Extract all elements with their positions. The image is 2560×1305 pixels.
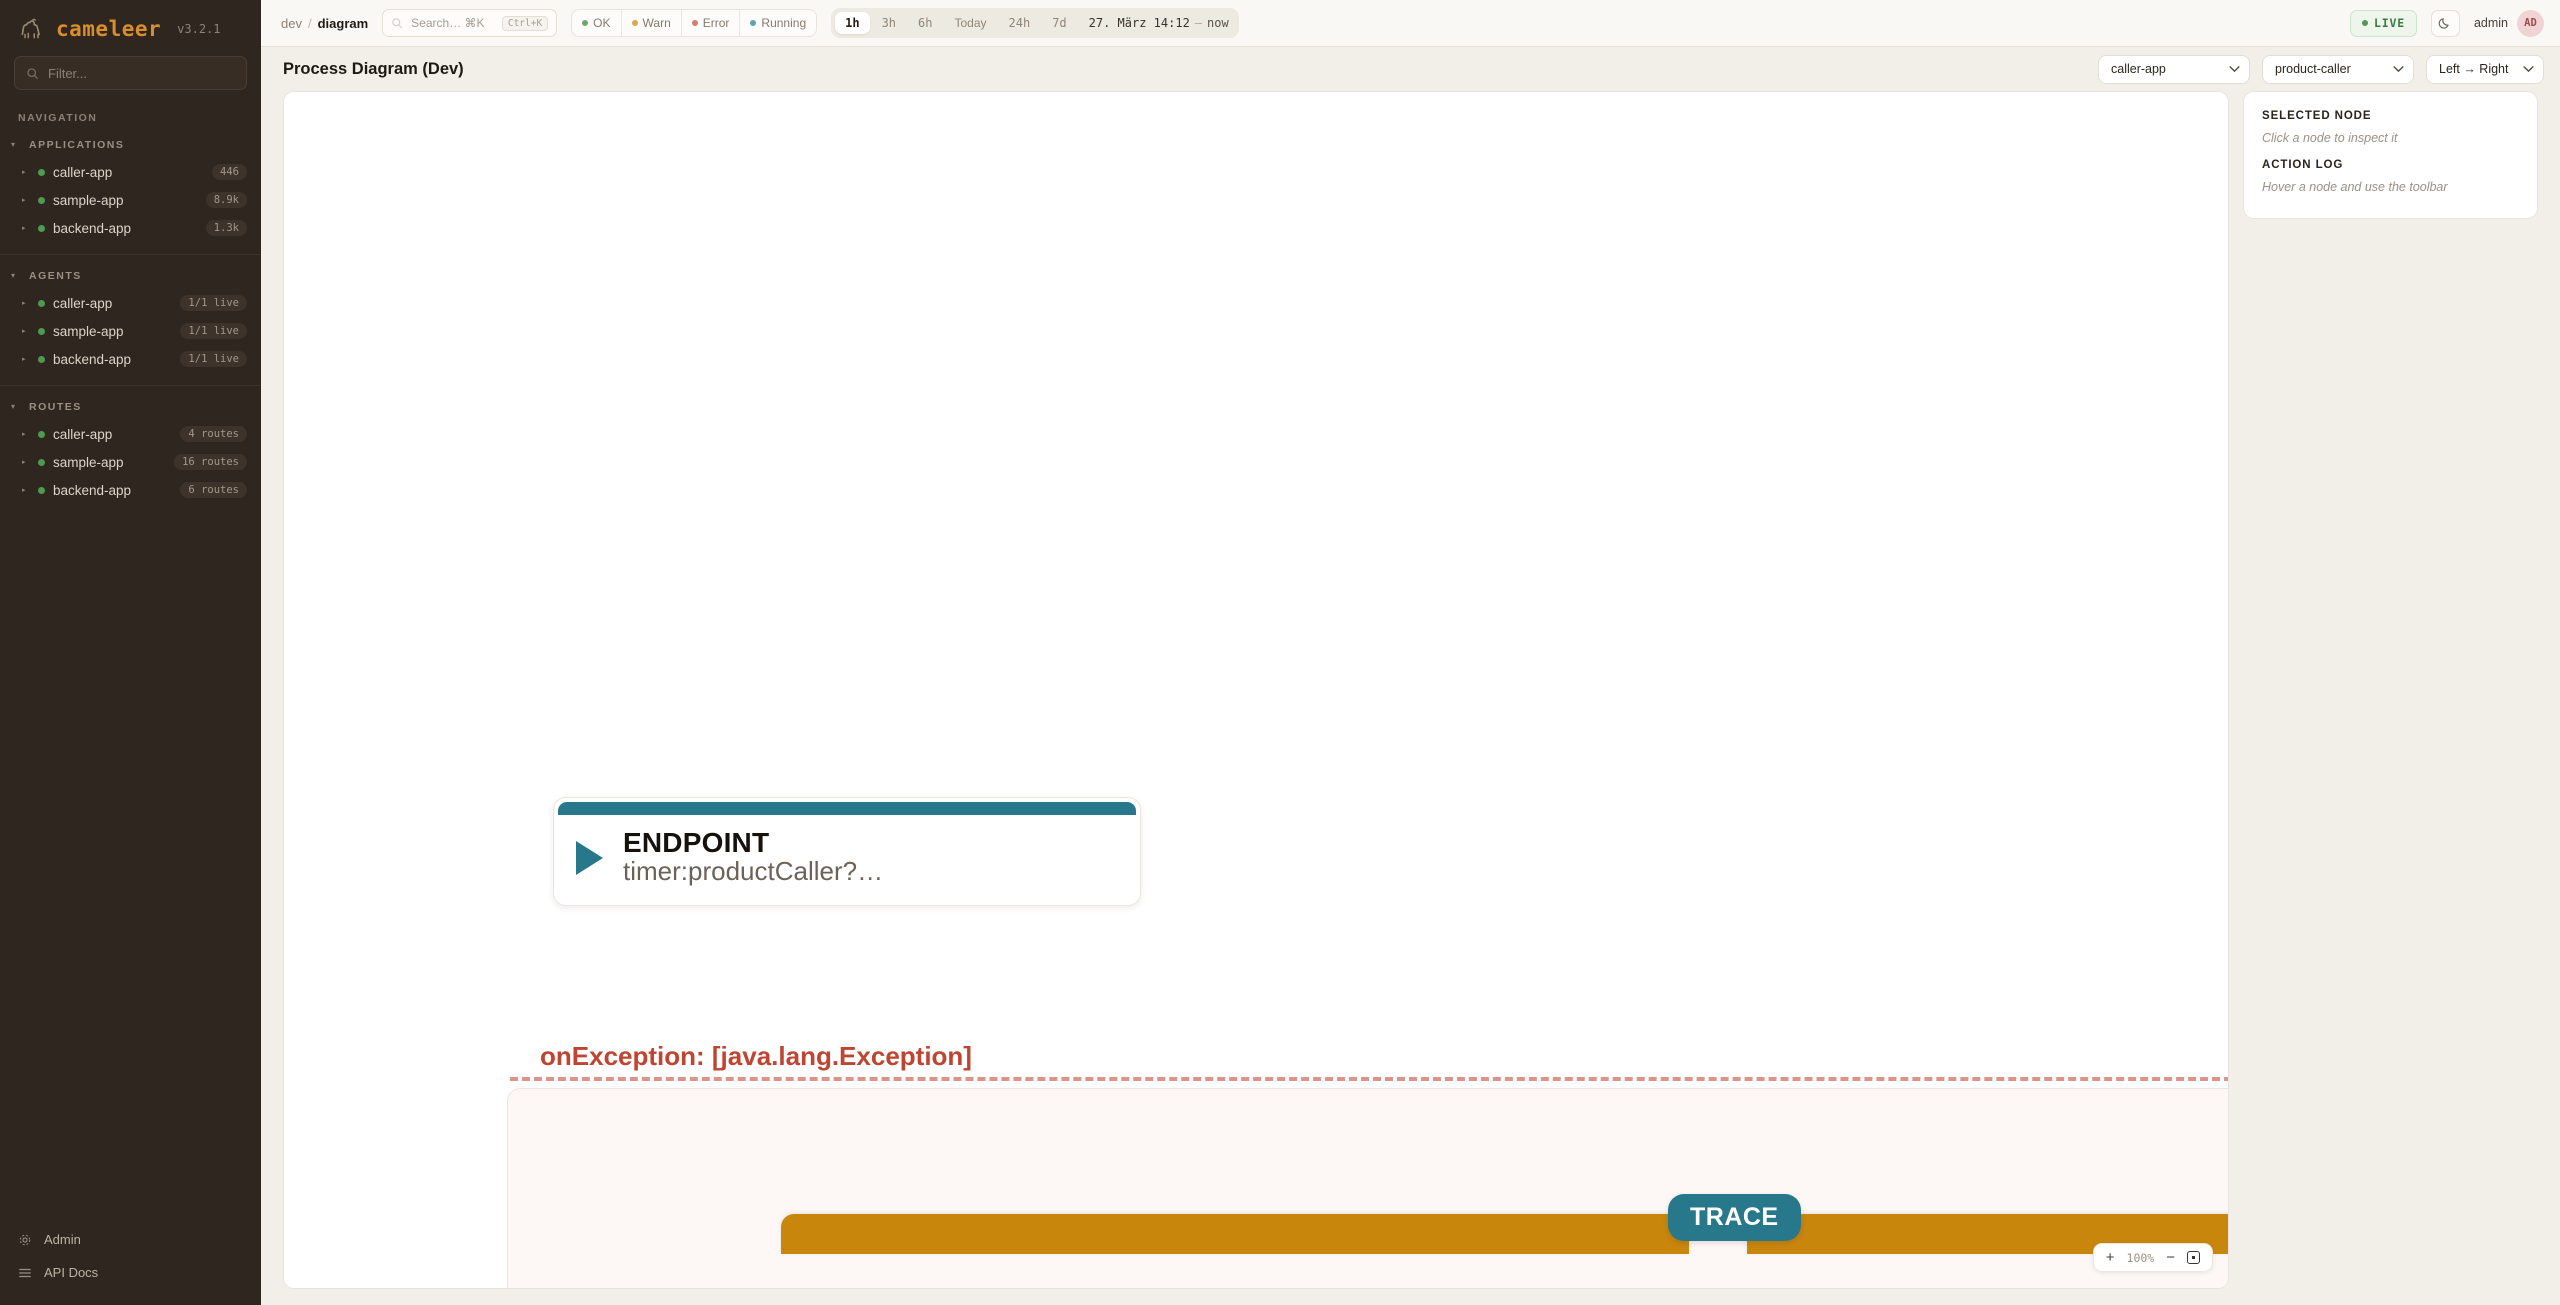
node-body: ENDPOINT timer:productCaller?… <box>554 815 1140 905</box>
sidebar-item-routes-sample-app[interactable]: ▸ sample-app 16 routes <box>0 448 261 476</box>
application-select-wrap: caller-app <box>2098 55 2250 84</box>
chevron-right-icon: ▸ <box>22 197 30 204</box>
status-filter-label: OK <box>593 16 610 30</box>
chevron-right-icon: ▸ <box>22 459 30 466</box>
sidebar-item-badge: 6 routes <box>180 482 247 498</box>
diagram-node-endpoint[interactable]: ENDPOINT timer:productCaller?… <box>553 797 1141 906</box>
theme-toggle-button[interactable] <box>2431 10 2460 37</box>
node-text: ENDPOINT timer:productCaller?… <box>623 828 883 887</box>
sidebar-item-badge: 8.9k <box>206 192 247 208</box>
chevron-right-icon: ▸ <box>22 225 30 232</box>
chevron-down-icon: ▾ <box>11 403 21 411</box>
sidebar-item-label: sample-app <box>53 324 172 339</box>
breadcrumb-root[interactable]: dev <box>281 16 302 31</box>
sidebar-item-admin[interactable]: Admin <box>0 1223 261 1256</box>
sidebar-item-agents-sample-app[interactable]: ▸ sample-app 1/1 live <box>0 317 261 345</box>
user-menu[interactable]: admin AD <box>2474 10 2544 37</box>
brand-version: v3.2.1 <box>177 22 220 36</box>
selected-node-title: SELECTED NODE <box>2262 110 2519 122</box>
user-name: admin <box>2474 16 2508 30</box>
sidebar-group-applications: ▾ APPLICATIONS ▸ caller-app 446 ▸ sample… <box>0 130 261 248</box>
sidebar-item-badge: 1/1 live <box>180 351 247 367</box>
route-select-wrap: product-caller <box>2262 55 2414 84</box>
node-kind-label: ENDPOINT <box>623 827 769 858</box>
sidebar-group-title: APPLICATIONS <box>29 139 124 151</box>
sidebar-item-label: caller-app <box>53 427 172 442</box>
sidebar-item-applications-caller-app[interactable]: ▸ caller-app 446 <box>0 158 261 186</box>
chevron-right-icon: ▸ <box>22 300 30 307</box>
sidebar-group-header-routes[interactable]: ▾ ROUTES <box>0 392 261 420</box>
sidebar-group-routes: ▾ ROUTES ▸ caller-app 4 routes ▸ sample-… <box>0 385 261 510</box>
sidebar-item-applications-backend-app[interactable]: ▸ backend-app 1.3k <box>0 214 261 242</box>
live-badge[interactable]: LIVE <box>2350 10 2417 37</box>
direction-select-wrap: Left → Right <box>2426 55 2544 84</box>
chevron-right-icon: ▸ <box>22 431 30 438</box>
content-area: ENDPOINT timer:productCaller?… onExcepti… <box>261 91 2560 1305</box>
status-dot <box>38 328 45 335</box>
exception-label: onException: [java.lang.Exception] <box>540 1041 972 1072</box>
fit-dot <box>2192 1256 2195 1259</box>
list-icon <box>18 1266 32 1280</box>
status-dot <box>38 487 45 494</box>
sidebar-filter[interactable] <box>14 56 247 90</box>
chevron-right-icon: ▸ <box>22 328 30 335</box>
chevron-right-icon: ▸ <box>22 356 30 363</box>
gear-icon <box>18 1233 32 1247</box>
selected-node-hint: Click a node to inspect it <box>2262 131 2519 145</box>
sidebar-item-label: backend-app <box>53 221 198 236</box>
zoom-out-button[interactable]: − <box>2166 1250 2175 1265</box>
status-dot-warn <box>632 20 638 26</box>
diagram-node-trace[interactable]: TRACE <box>1668 1194 1801 1241</box>
status-filter-running[interactable]: Running <box>739 10 816 36</box>
navigation-label: NAVIGATION <box>0 90 261 130</box>
time-range-to: now <box>1207 16 1229 30</box>
page-header: Process Diagram (Dev) caller-app product… <box>261 47 2560 91</box>
sidebar-item-badge: 1/1 live <box>180 323 247 339</box>
status-filter-label: Warn <box>643 16 671 30</box>
sidebar-group-agents: ▾ AGENTS ▸ caller-app 1/1 live ▸ sample-… <box>0 254 261 379</box>
sidebar-filter-input[interactable] <box>48 66 235 81</box>
time-range-6h[interactable]: 6h <box>908 12 942 34</box>
action-log-hint: Hover a node and use the toolbar <box>2262 180 2519 194</box>
status-dot <box>38 459 45 466</box>
avatar: AD <box>2517 10 2544 37</box>
sidebar-item-badge: 1.3k <box>206 220 247 236</box>
brand[interactable]: cameleer v3.2.1 <box>0 0 261 56</box>
time-range-today[interactable]: Today <box>944 12 996 34</box>
sidebar-item-badge: 4 routes <box>180 426 247 442</box>
time-range-dash: – <box>1195 16 1202 30</box>
route-select[interactable]: product-caller <box>2262 55 2414 84</box>
status-dot-error <box>692 20 698 26</box>
moon-icon <box>2438 16 2452 30</box>
status-dot <box>38 169 45 176</box>
diagram-node-orange-left[interactable] <box>781 1214 1689 1254</box>
status-filter-ok[interactable]: OK <box>572 10 620 36</box>
chevron-down-icon: ▾ <box>11 141 21 149</box>
sidebar-item-label: sample-app <box>53 193 198 208</box>
main-area: dev / diagram Search… ⌘K Ctrl+K OK <box>261 0 2560 1305</box>
sidebar-group-title: AGENTS <box>29 270 82 282</box>
sidebar-item-badge: 446 <box>212 164 247 180</box>
sidebar-filter-wrap <box>0 56 261 90</box>
sidebar-item-label: caller-app <box>53 165 204 180</box>
status-filter-label: Error <box>703 16 730 30</box>
zoom-control: + 100% − <box>2093 1243 2213 1272</box>
application-select[interactable]: caller-app <box>2098 55 2250 84</box>
sidebar-footer-label: Admin <box>44 1232 81 1247</box>
status-dot <box>38 225 45 232</box>
time-range-24h[interactable]: 24h <box>999 12 1041 34</box>
direction-select[interactable]: Left → Right <box>2426 55 2544 84</box>
sidebar-item-api-docs[interactable]: API Docs <box>0 1256 261 1289</box>
exception-boundary-line <box>510 1077 2229 1081</box>
sidebar: cameleer v3.2.1 NAVIGATION ▾ APPLICATION… <box>0 0 261 1305</box>
sidebar-footer: Admin API Docs <box>0 1223 261 1305</box>
chevron-right-icon: ▸ <box>22 487 30 494</box>
play-icon <box>576 841 603 875</box>
chevron-right-icon: ▸ <box>22 169 30 176</box>
exception-region-panel <box>507 1088 2229 1289</box>
app-root: cameleer v3.2.1 NAVIGATION ▾ APPLICATION… <box>0 0 2560 1305</box>
sidebar-item-badge: 16 routes <box>174 454 247 470</box>
node-accent-bar <box>558 802 1136 815</box>
breadcrumb-separator: / <box>308 16 312 31</box>
status-filter-group: OK Warn Error Running <box>571 9 817 37</box>
sidebar-item-label: backend-app <box>53 483 172 498</box>
search-icon <box>391 17 403 29</box>
sidebar-item-label: sample-app <box>53 455 166 470</box>
live-dot <box>2362 20 2368 26</box>
sidebar-item-routes-caller-app[interactable]: ▸ caller-app 4 routes <box>0 420 261 448</box>
sidebar-item-agents-backend-app[interactable]: ▸ backend-app 1/1 live <box>0 345 261 373</box>
sidebar-item-routes-backend-app[interactable]: ▸ backend-app 6 routes <box>0 476 261 504</box>
sidebar-item-label: caller-app <box>53 296 172 311</box>
status-dot-running <box>750 20 756 26</box>
time-range-3h[interactable]: 3h <box>872 12 906 34</box>
action-log-title: ACTION LOG <box>2262 159 2519 171</box>
status-dot <box>38 431 45 438</box>
camel-icon <box>18 16 44 42</box>
time-range-7d[interactable]: 7d <box>1042 12 1076 34</box>
global-search[interactable]: Search… ⌘K Ctrl+K <box>382 9 557 37</box>
sidebar-footer-label: API Docs <box>44 1265 98 1280</box>
status-dot <box>38 197 45 204</box>
zoom-percent: 100% <box>2127 1251 2155 1265</box>
fit-to-screen-icon[interactable] <box>2187 1251 2200 1264</box>
breadcrumb: dev / diagram <box>281 16 368 31</box>
search-shortcut-kbd: Ctrl+K <box>502 16 548 31</box>
page-title: Process Diagram (Dev) <box>283 60 464 79</box>
search-icon <box>26 67 39 80</box>
node-uri-label: timer:productCaller?… <box>623 856 883 886</box>
time-range-value[interactable]: 27. März 14:12–now <box>1079 16 1235 30</box>
status-dot <box>38 356 45 363</box>
inspector-panel: SELECTED NODE Click a node to inspect it… <box>2243 91 2538 219</box>
sidebar-group-header-agents[interactable]: ▾ AGENTS <box>0 261 261 289</box>
brand-name: cameleer <box>56 17 161 41</box>
sidebar-group-header-applications[interactable]: ▾ APPLICATIONS <box>0 130 261 158</box>
global-search-placeholder: Search… ⌘K <box>411 16 494 30</box>
sidebar-item-label: backend-app <box>53 352 172 367</box>
status-filter-error[interactable]: Error <box>681 10 740 36</box>
sidebar-item-badge: 1/1 live <box>180 295 247 311</box>
status-dot-ok <box>582 20 588 26</box>
breadcrumb-current: diagram <box>318 16 369 31</box>
topbar: dev / diagram Search… ⌘K Ctrl+K OK <box>261 0 2560 47</box>
zoom-in-button[interactable]: + <box>2106 1250 2115 1265</box>
status-filter-warn[interactable]: Warn <box>621 10 681 36</box>
status-filter-label: Running <box>761 16 806 30</box>
live-label: LIVE <box>2374 16 2405 30</box>
time-range-from: 27. März 14:12 <box>1089 16 1190 30</box>
sidebar-group-title: ROUTES <box>29 401 82 413</box>
time-range-1h[interactable]: 1h <box>835 12 869 34</box>
time-range-group: 1h 3h 6h Today 24h 7d 27. März 14:12–now <box>831 8 1239 38</box>
sidebar-item-agents-caller-app[interactable]: ▸ caller-app 1/1 live <box>0 289 261 317</box>
diagram-canvas[interactable]: ENDPOINT timer:productCaller?… onExcepti… <box>283 91 2229 1289</box>
sidebar-item-applications-sample-app[interactable]: ▸ sample-app 8.9k <box>0 186 261 214</box>
status-dot <box>38 300 45 307</box>
chevron-down-icon: ▾ <box>11 272 21 280</box>
